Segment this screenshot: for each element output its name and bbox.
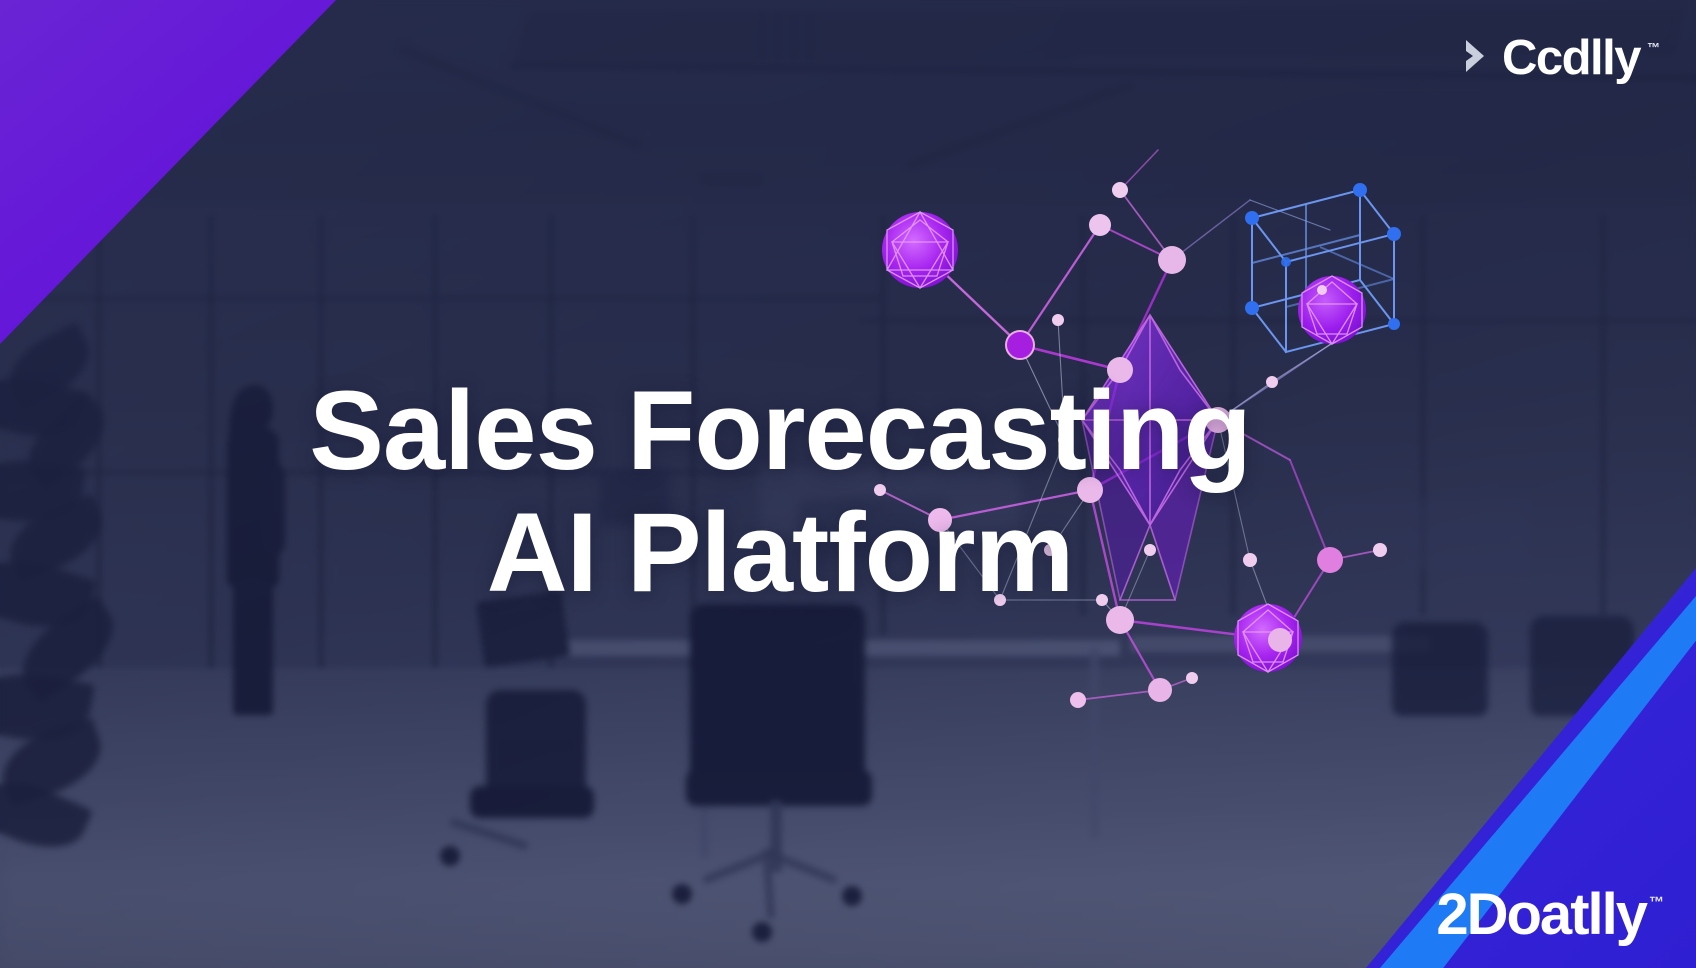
brand-logo-top-right[interactable]: Ccdlly ™ <box>1462 34 1660 83</box>
headline-line-1: Sales Forecasting <box>0 370 1560 492</box>
page-title: Sales Forecasting AI Platform <box>0 370 1560 614</box>
trademark-symbol-top: ™ <box>1647 40 1660 55</box>
chevron-right-icon <box>1462 36 1496 81</box>
headline-line-2: AI Platform <box>0 492 1560 614</box>
brand-wordmark-top: Ccdlly <box>1502 34 1640 83</box>
brand-wordmark-bottom: 2Doatlly <box>1436 886 1646 944</box>
promo-banner: Sales Forecasting AI Platform Ccdlly ™ 2… <box>0 0 1696 968</box>
trademark-symbol-bottom: ™ <box>1649 894 1664 911</box>
brand-logo-bottom-right[interactable]: 2Doatlly ™ <box>1436 886 1664 944</box>
